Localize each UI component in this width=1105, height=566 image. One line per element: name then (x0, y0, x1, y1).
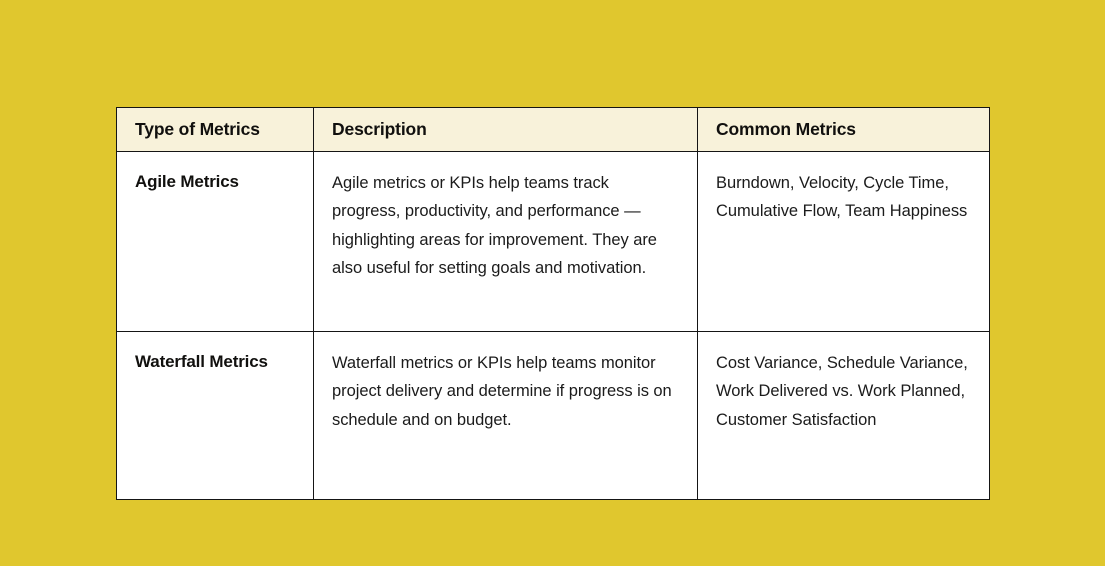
cell-metric-description-text: Agile metrics or KPIs help teams track p… (332, 169, 679, 283)
metrics-table-container: Type of Metrics Description Common Metri… (116, 107, 989, 500)
column-header-description: Description (314, 108, 698, 152)
cell-metric-type: Agile Metrics (117, 152, 314, 332)
metrics-comparison-table: Type of Metrics Description Common Metri… (116, 107, 990, 500)
page-root: Type of Metrics Description Common Metri… (0, 0, 1105, 566)
table-header: Type of Metrics Description Common Metri… (117, 108, 990, 152)
cell-metric-description: Waterfall metrics or KPIs help teams mon… (314, 332, 698, 500)
cell-metric-type-text: Agile Metrics (135, 168, 295, 196)
cell-common-metrics-text: Burndown, Velocity, Cycle Time, Cumulati… (716, 169, 971, 226)
cell-metric-type: Waterfall Metrics (117, 332, 314, 500)
table-row: Agile Metrics Agile metrics or KPIs help… (117, 152, 990, 332)
table-row: Waterfall Metrics Waterfall metrics or K… (117, 332, 990, 500)
table-body: Agile Metrics Agile metrics or KPIs help… (117, 152, 990, 500)
column-header-common-metrics: Common Metrics (698, 108, 990, 152)
cell-metric-type-text: Waterfall Metrics (135, 348, 295, 376)
cell-common-metrics-text: Cost Variance, Schedule Variance, Work D… (716, 349, 971, 434)
cell-metric-description: Agile metrics or KPIs help teams track p… (314, 152, 698, 332)
cell-common-metrics: Cost Variance, Schedule Variance, Work D… (698, 332, 990, 500)
table-header-row: Type of Metrics Description Common Metri… (117, 108, 990, 152)
column-header-type-of-metrics: Type of Metrics (117, 108, 314, 152)
cell-common-metrics: Burndown, Velocity, Cycle Time, Cumulati… (698, 152, 990, 332)
cell-metric-description-text: Waterfall metrics or KPIs help teams mon… (332, 349, 679, 434)
